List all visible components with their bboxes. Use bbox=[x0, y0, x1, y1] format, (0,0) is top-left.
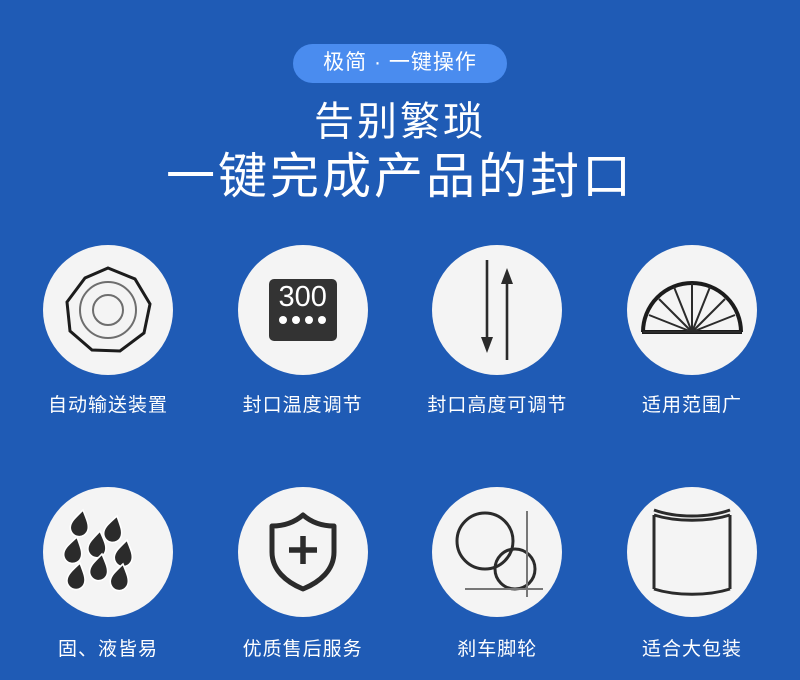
indicator-dot bbox=[318, 316, 326, 324]
display-indicator-dots bbox=[279, 316, 326, 324]
feature-item-temperature[interactable]: 300 封口温度调节 bbox=[238, 245, 368, 418]
indicator-dot bbox=[305, 316, 313, 324]
droplets-icon bbox=[66, 506, 150, 598]
icon-circle bbox=[43, 245, 173, 375]
feature-label: 刹车脚轮 bbox=[457, 638, 537, 662]
feature-item-auto-conveyor[interactable]: 自动输送装置 bbox=[43, 245, 173, 418]
feature-item-brake-caster[interactable]: 刹车脚轮 bbox=[432, 487, 562, 662]
feature-item-height-adjust[interactable]: 封口高度可调节 bbox=[432, 245, 562, 418]
icon-circle bbox=[43, 487, 173, 617]
caster-wheel-icon bbox=[449, 505, 545, 599]
feature-label: 固、液皆易 bbox=[58, 638, 158, 662]
feature-item-after-sales[interactable]: 优质售后服务 bbox=[238, 487, 368, 662]
headline-line-2: 一键完成产品的封口 bbox=[0, 148, 800, 206]
icon-circle bbox=[627, 245, 757, 375]
fan-arc-icon bbox=[640, 283, 744, 337]
feature-item-solid-liquid[interactable]: 固、液皆易 bbox=[43, 487, 173, 662]
feature-item-wide-range[interactable]: 适用范围广 bbox=[627, 245, 757, 418]
feature-label: 自动输送装置 bbox=[48, 394, 168, 418]
display-value: 300 bbox=[278, 282, 326, 313]
octagon-rings-icon bbox=[60, 262, 156, 358]
icon-circle bbox=[432, 487, 562, 617]
icon-circle: 300 bbox=[238, 245, 368, 375]
package-bag-icon bbox=[650, 509, 734, 595]
headline-block: 告别繁琐 一键完成产品的封口 bbox=[0, 98, 800, 206]
feature-label: 适合大包装 bbox=[642, 638, 742, 662]
icon-circle bbox=[432, 245, 562, 375]
feature-label: 优质售后服务 bbox=[243, 638, 363, 662]
feature-row-2: 固、液皆易 优质售后服务 bbox=[0, 487, 800, 662]
icon-circle bbox=[238, 487, 368, 617]
feature-label: 封口温度调节 bbox=[243, 394, 363, 418]
indicator-dot bbox=[292, 316, 300, 324]
feature-grid: 自动输送装置 300 封口温度调节 bbox=[0, 245, 800, 662]
indicator-dot bbox=[279, 316, 287, 324]
up-down-arrows-icon bbox=[462, 258, 532, 362]
feature-row-1: 自动输送装置 300 封口温度调节 bbox=[0, 245, 800, 418]
temperature-display-icon: 300 bbox=[269, 279, 337, 341]
feature-item-large-package[interactable]: 适合大包装 bbox=[627, 487, 757, 662]
tagline-badge: 极简 · 一键操作 bbox=[293, 44, 507, 83]
badge-container: 极简 · 一键操作 bbox=[0, 44, 800, 83]
headline-line-1: 告别繁琐 bbox=[0, 98, 800, 146]
shield-plus-icon bbox=[266, 512, 340, 592]
icon-circle bbox=[627, 487, 757, 617]
feature-label: 适用范围广 bbox=[642, 394, 742, 418]
feature-label: 封口高度可调节 bbox=[427, 394, 567, 418]
promo-page: 极简 · 一键操作 告别繁琐 一键完成产品的封口 自动 bbox=[0, 0, 800, 680]
